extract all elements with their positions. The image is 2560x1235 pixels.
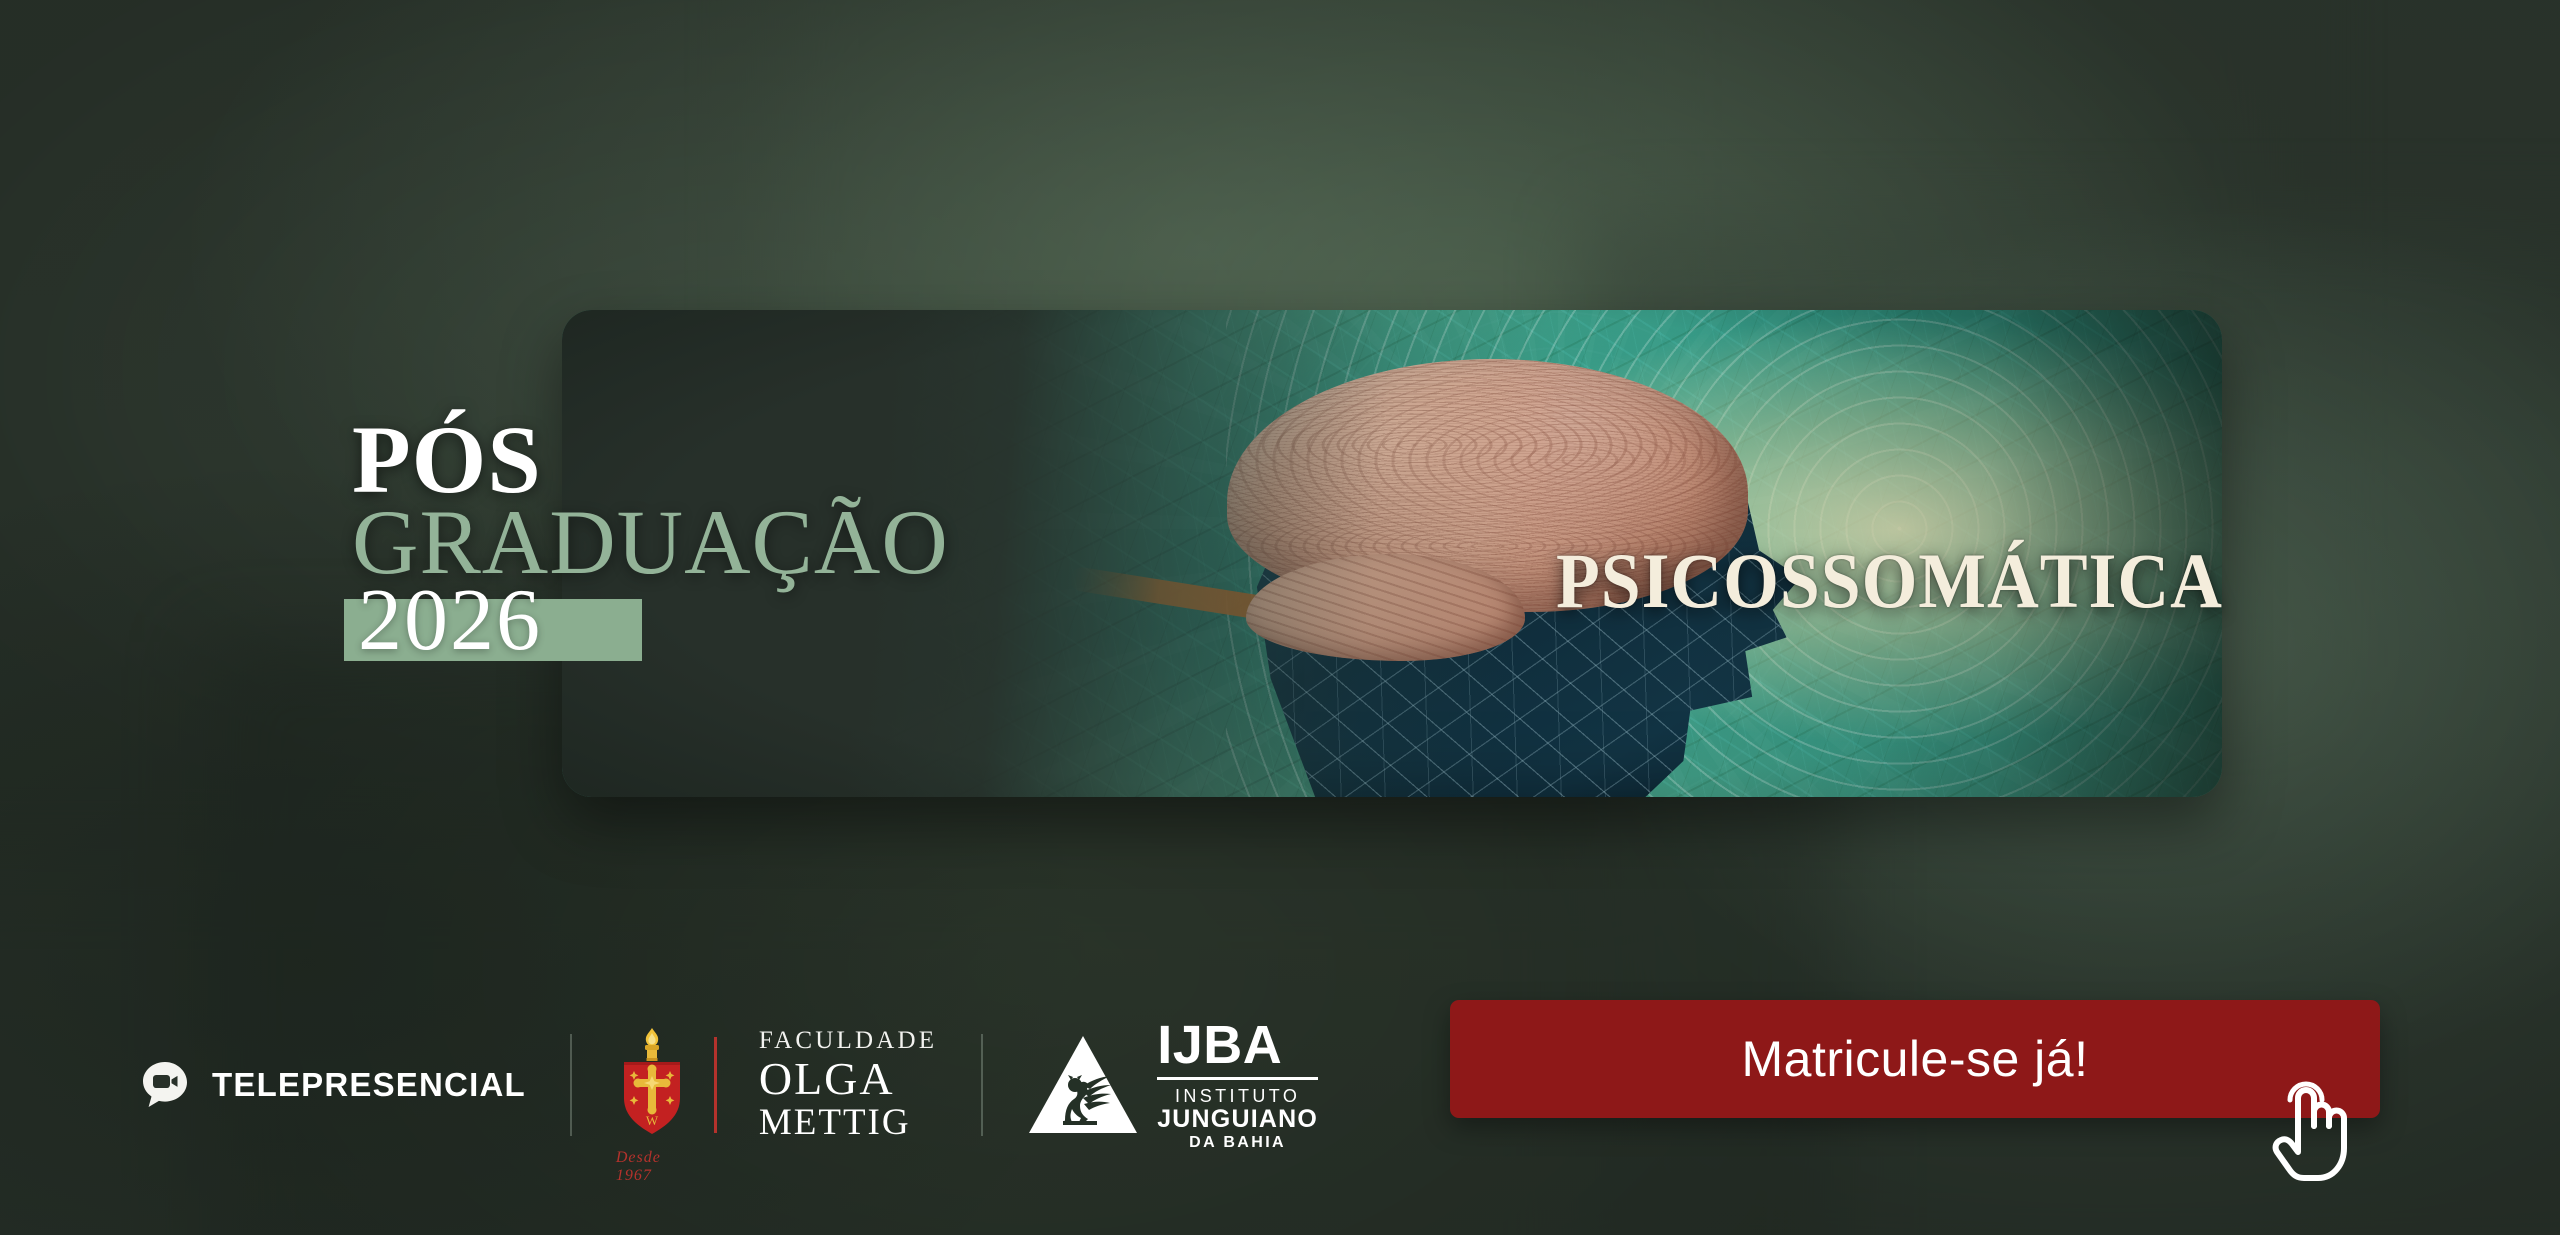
olga-mettig-line-2: OLGA <box>759 1056 937 1102</box>
olga-mettig-line-3: METTIG <box>759 1104 937 1141</box>
partner-logo-strip: TELEPRESENCIAL <box>140 1018 1318 1151</box>
olga-mettig-red-rule <box>714 1037 717 1133</box>
ijba-line-2: JUNGUIANO <box>1157 1107 1318 1132</box>
ijba-line-3: DA BAHIA <box>1157 1135 1318 1151</box>
ijba-logo: IJBA INSTITUTO JUNGUIANO DA BAHIA <box>1027 1018 1318 1151</box>
hero-title-block: PÓS GRADUAÇÃO 2026 <box>352 418 1032 665</box>
ijba-wordmark: IJBA INSTITUTO JUNGUIANO DA BAHIA <box>1157 1018 1318 1151</box>
shield-crest-with-cross-and-torch-icon: W Desde 1967 <box>616 1026 688 1144</box>
ijba-rule <box>1157 1077 1318 1080</box>
olga-mettig-wordmark: FACULDADE OLGA METTIG <box>759 1028 937 1141</box>
svg-text:W: W <box>646 1113 659 1128</box>
ijba-acronym: IJBA <box>1157 1018 1318 1072</box>
enroll-button-label: Matricule-se já! <box>1742 1030 2089 1088</box>
video-chat-bubble-icon <box>140 1060 190 1110</box>
ijba-line-1: INSTITUTO <box>1157 1087 1318 1105</box>
olga-mettig-line-1: FACULDADE <box>759 1028 937 1053</box>
course-title: PSICOSSOMÁTICA <box>1556 542 2223 620</box>
hero-year: 2026 <box>352 577 548 665</box>
hero-year-wrap: 2026 <box>352 577 548 665</box>
telepresencial-label: TELEPRESENCIAL <box>212 1066 526 1104</box>
triangle-sphinx-icon <box>1027 1034 1139 1136</box>
logo-divider <box>570 1034 572 1136</box>
hero-eyebrow: PÓS <box>352 418 1032 502</box>
enroll-button[interactable]: Matricule-se já! <box>1450 1000 2380 1118</box>
telepresencial-logo: TELEPRESENCIAL <box>140 1060 526 1110</box>
olga-mettig-logo: W Desde 1967 FACULDADE OLGA METTIG <box>616 1026 937 1144</box>
logo-divider <box>981 1034 983 1136</box>
